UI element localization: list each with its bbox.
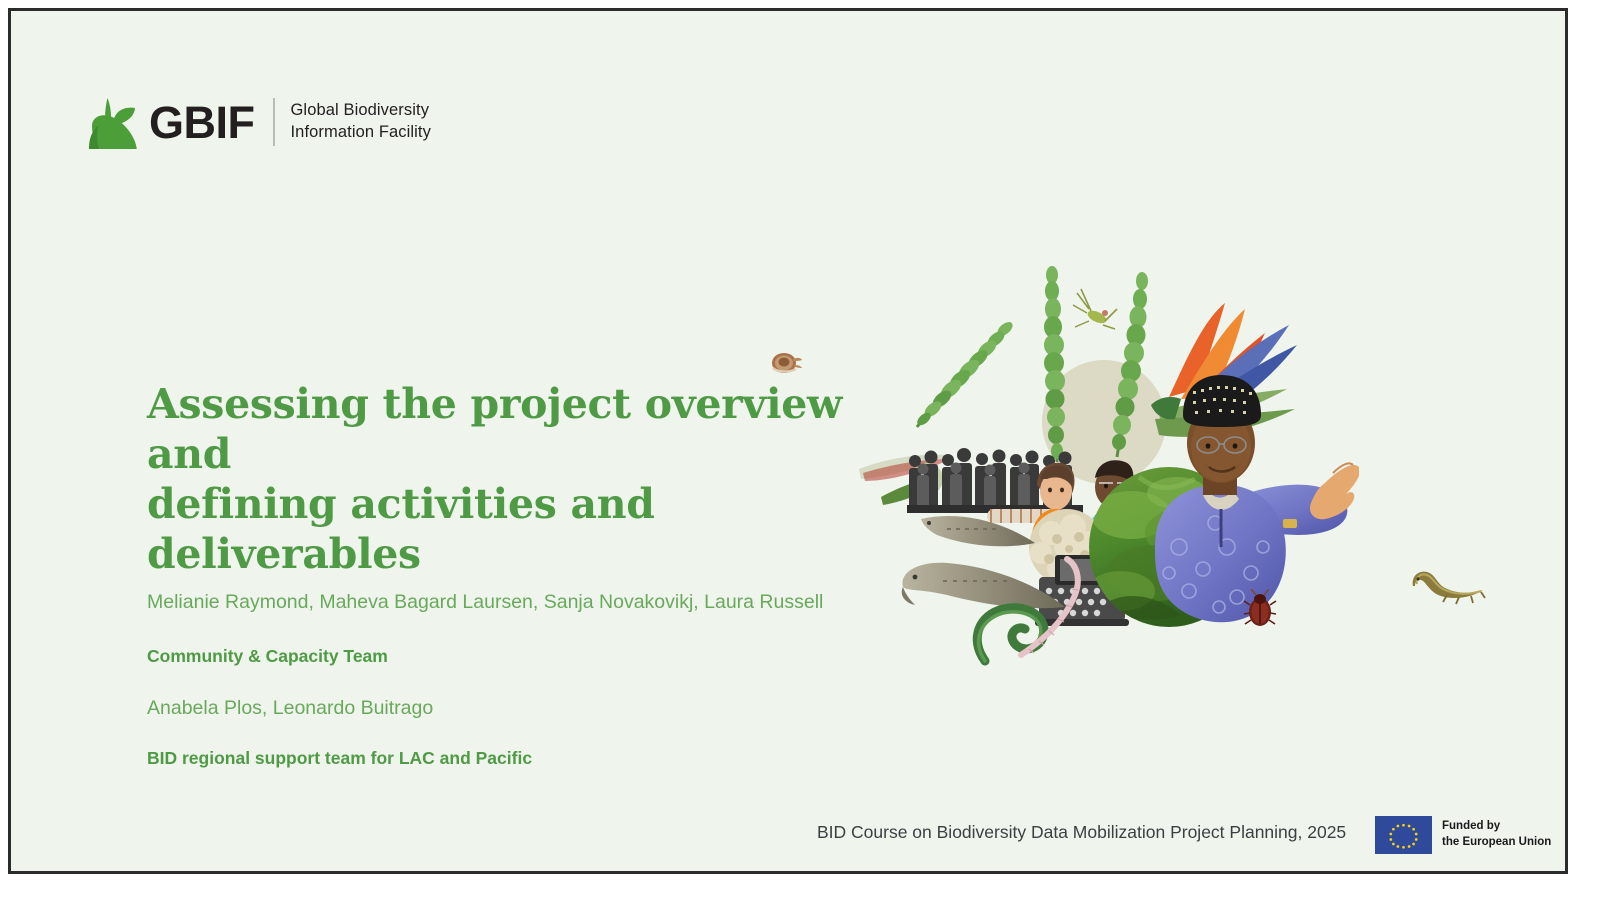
man-blue-agbada-hat xyxy=(1155,375,1359,622)
eu-funding-line2: the European Union xyxy=(1442,835,1551,851)
biodiversity-collage xyxy=(859,247,1359,667)
footer-caption: BID Course on Biodiversity Data Mobiliza… xyxy=(817,822,1346,843)
green-snake xyxy=(977,608,1044,661)
lizard-icon xyxy=(1403,564,1487,606)
fern-frond-left xyxy=(915,319,1015,427)
gbif-subtitle-line2: Information Facility xyxy=(291,122,431,144)
grasshopper xyxy=(1073,289,1117,329)
eu-flag-icon xyxy=(1375,816,1432,854)
team-secondary: BID regional support team for LAC and Pa… xyxy=(147,747,847,771)
page-title: Assessing the project overview and defin… xyxy=(147,379,847,579)
logo-divider xyxy=(273,98,275,146)
snail-icon xyxy=(769,346,803,376)
gbif-subtitle: Global Biodiversity Information Facility xyxy=(291,100,431,144)
beetle-icon xyxy=(1243,589,1277,627)
page-title-line1: Assessing the project overview and xyxy=(147,379,847,479)
title-block: Assessing the project overview and defin… xyxy=(147,379,847,771)
team-primary: Community & Capacity Team xyxy=(147,645,847,669)
eu-funding-line1: Funded by xyxy=(1442,819,1551,835)
eu-funding-badge: Funded by the European Union xyxy=(1375,816,1551,854)
page-title-line2: defining activities and deliverables xyxy=(147,479,847,579)
authors-primary: Melianie Raymond, Maheva Bagard Laursen,… xyxy=(147,589,847,615)
gbif-logo: GBIF Global Biodiversity Information Fac… xyxy=(83,91,431,153)
gbif-subtitle-line1: Global Biodiversity xyxy=(291,100,431,122)
eu-funding-text: Funded by the European Union xyxy=(1442,819,1551,851)
authors-secondary: Anabela Plos, Leonardo Buitrago xyxy=(147,695,847,721)
gbif-leaf-sprout-icon xyxy=(83,92,143,152)
gbif-wordmark: GBIF xyxy=(149,100,255,145)
slide-canvas: GBIF Global Biodiversity Information Fac… xyxy=(8,8,1568,874)
